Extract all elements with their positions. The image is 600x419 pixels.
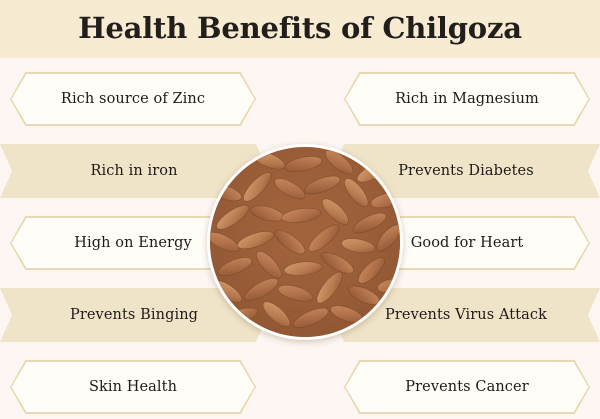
benefit-banner-skin-health[interactable]: Skin Health [10,360,256,414]
benefit-label: Prevents Binging [70,307,198,323]
benefit-label: Rich source of Zinc [61,91,205,107]
benefit-banner-rich-source-of-zinc[interactable]: Rich source of Zinc [10,72,256,126]
benefit-label: Rich in iron [90,163,177,179]
benefit-banner-prevents-cancer[interactable]: Prevents Cancer [344,360,590,414]
benefit-label: Skin Health [89,379,177,395]
benefit-label: Prevents Diabetes [398,163,534,179]
benefit-banner-rich-in-magnesium[interactable]: Rich in Magnesium [344,72,590,126]
page-title: Health Benefits of Chilgoza [0,0,600,58]
benefit-label: High on Energy [74,235,192,251]
benefit-label: Prevents Cancer [405,379,528,395]
benefit-label: Good for Heart [411,235,524,251]
benefit-row: Skin Health Prevents Cancer [0,360,600,414]
infographic-root: Health Benefits of Chilgoza Rich source … [0,0,600,419]
benefit-label: Rich in Magnesium [395,91,539,107]
pine-nuts-illustration [210,147,400,337]
benefit-label: Prevents Virus Attack [385,307,547,323]
chilgoza-pine-nuts-photo [207,144,403,340]
benefit-row: Rich source of Zinc Rich in Magnesium [0,72,600,126]
